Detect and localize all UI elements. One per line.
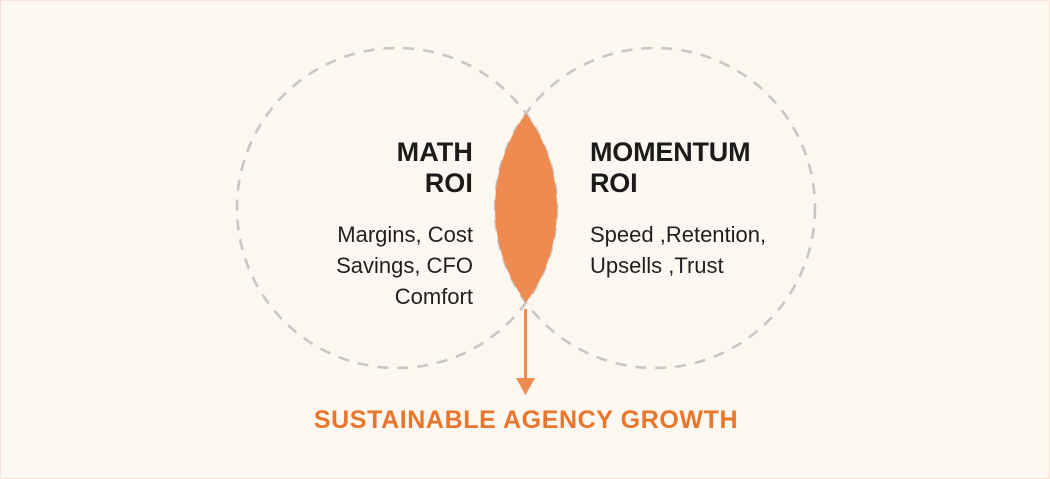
outcome-headline: SUSTAINABLE AGENCY GROWTH: [1, 406, 1050, 435]
left-circle-body: Margins, Cost Savings, CFO Comfort: [213, 199, 473, 312]
left-circle-content: MATH ROI Margins, Cost Savings, CFO Comf…: [213, 137, 473, 312]
right-circle-content: MOMENTUM ROI Speed ,Retention, Upsells ,…: [590, 137, 850, 281]
venn-text-layer: MATH ROI Margins, Cost Savings, CFO Comf…: [1, 1, 1050, 479]
left-circle-title: MATH ROI: [213, 137, 473, 199]
right-circle-body: Speed ,Retention, Upsells ,Trust: [590, 199, 850, 281]
venn-diagram-canvas: MATH ROI Margins, Cost Savings, CFO Comf…: [0, 0, 1050, 479]
right-circle-title: MOMENTUM ROI: [590, 137, 850, 199]
